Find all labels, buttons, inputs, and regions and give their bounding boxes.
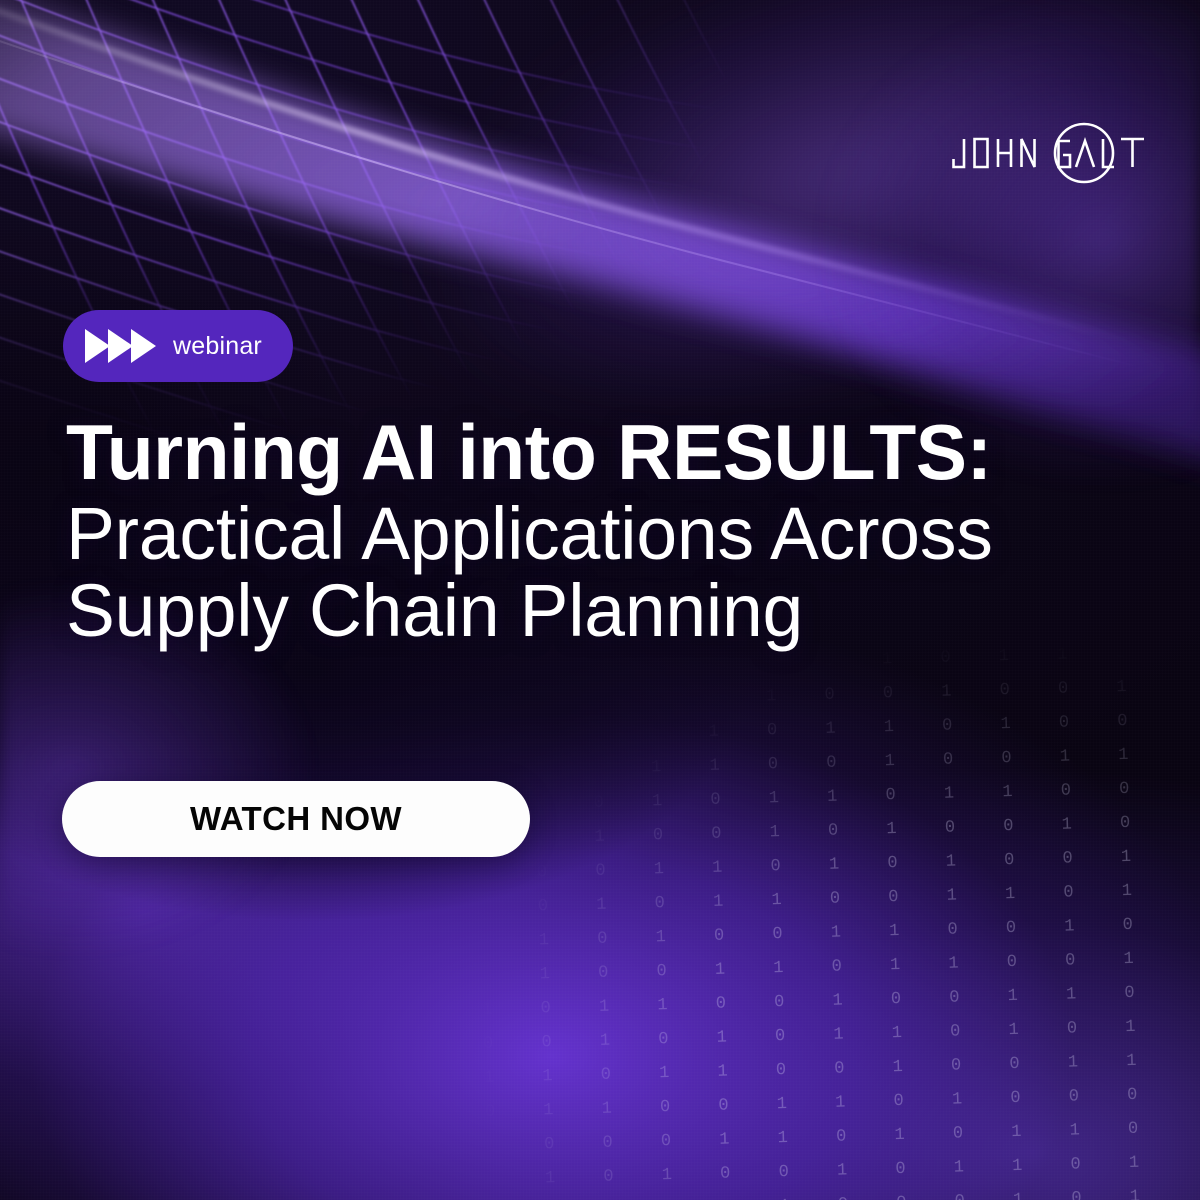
webinar-promo-banner: 0 1 0 0 1 0 1 1 0 0 1 0 1 0 1 0 0 1 0 1 … [0,0,1200,1200]
watch-now-label: WATCH NOW [190,800,402,838]
headline: Turning AI into RESULTS: Practical Appli… [66,415,1136,646]
headline-line-2: Practical Applications Across [66,498,1125,569]
webinar-badge-label: webinar [173,332,262,361]
headline-line-3: Supply Chain Planning [66,575,1125,646]
john-galt-logo[interactable] [948,118,1156,192]
watch-now-button[interactable]: WATCH NOW [62,781,530,857]
logo-mark [948,117,1156,193]
content-layer: webinar Turning AI into RESULTS: Practic… [0,0,1200,1200]
headline-line-1: Turning AI into RESULTS: [66,415,1120,490]
webinar-badge: webinar [63,310,293,382]
triple-play-icon [83,326,159,366]
